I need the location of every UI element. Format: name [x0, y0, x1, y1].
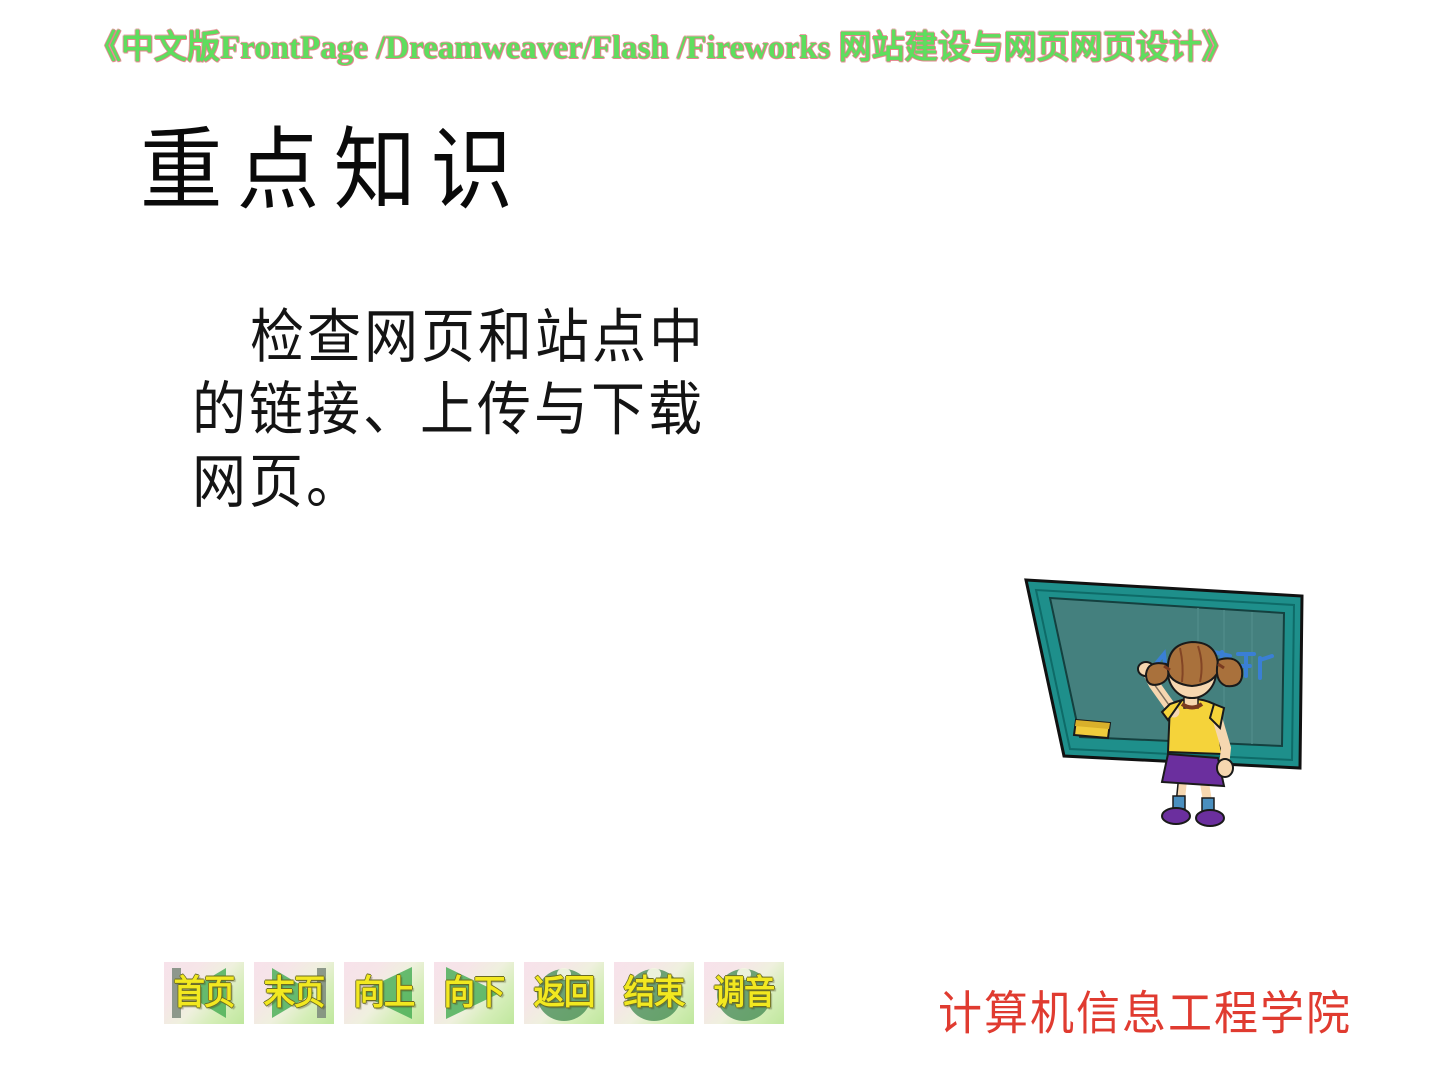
girl-hand-right: [1217, 759, 1233, 777]
nav-button-page-down[interactable]: 向下: [434, 962, 514, 1024]
page-title: 重点知识: [140, 118, 527, 226]
nav-button-first-page[interactable]: 首页: [164, 962, 244, 1024]
footer-organization: 计算机信息工程学院: [938, 986, 1352, 1043]
chalkboard-illustration: [1012, 568, 1312, 848]
slide-canvas: 《中文版FrontPage /Dreamweaver/Flash /Firewo…: [0, 0, 1440, 1080]
girl-pigtail-right: [1217, 658, 1242, 686]
book-title: 《中文版FrontPage /Dreamweaver/Flash /Firewo…: [88, 26, 1358, 70]
girl-hair: [1168, 642, 1218, 686]
nav-button-back[interactable]: 返回: [524, 962, 604, 1024]
nav-button-page-up[interactable]: 向上: [344, 962, 424, 1024]
body-paragraph: 检查网页和站点中的链接、上传与下载网页。: [192, 302, 752, 519]
chalkboard-illustration-svg: [1012, 568, 1312, 848]
eraser-icon: [1074, 720, 1110, 738]
nav-button-label: 调音: [707, 975, 781, 1013]
nav-button-end[interactable]: 结束: [614, 962, 694, 1024]
nav-button-sound[interactable]: 调音: [704, 962, 784, 1024]
nav-button-label: 返回: [527, 975, 601, 1013]
navigation-button-strip[interactable]: 首页 末页 向上: [164, 962, 784, 1028]
nav-button-label: 末页: [257, 975, 331, 1013]
nav-button-label: 结束: [617, 975, 691, 1013]
nav-button-label: 向上: [347, 975, 421, 1013]
nav-button-label: 首页: [167, 975, 241, 1013]
girl-shoes: [1162, 808, 1224, 826]
girl-skirt: [1162, 754, 1224, 786]
nav-button-last-page[interactable]: 末页: [254, 962, 334, 1024]
nav-button-label: 向下: [437, 975, 511, 1013]
